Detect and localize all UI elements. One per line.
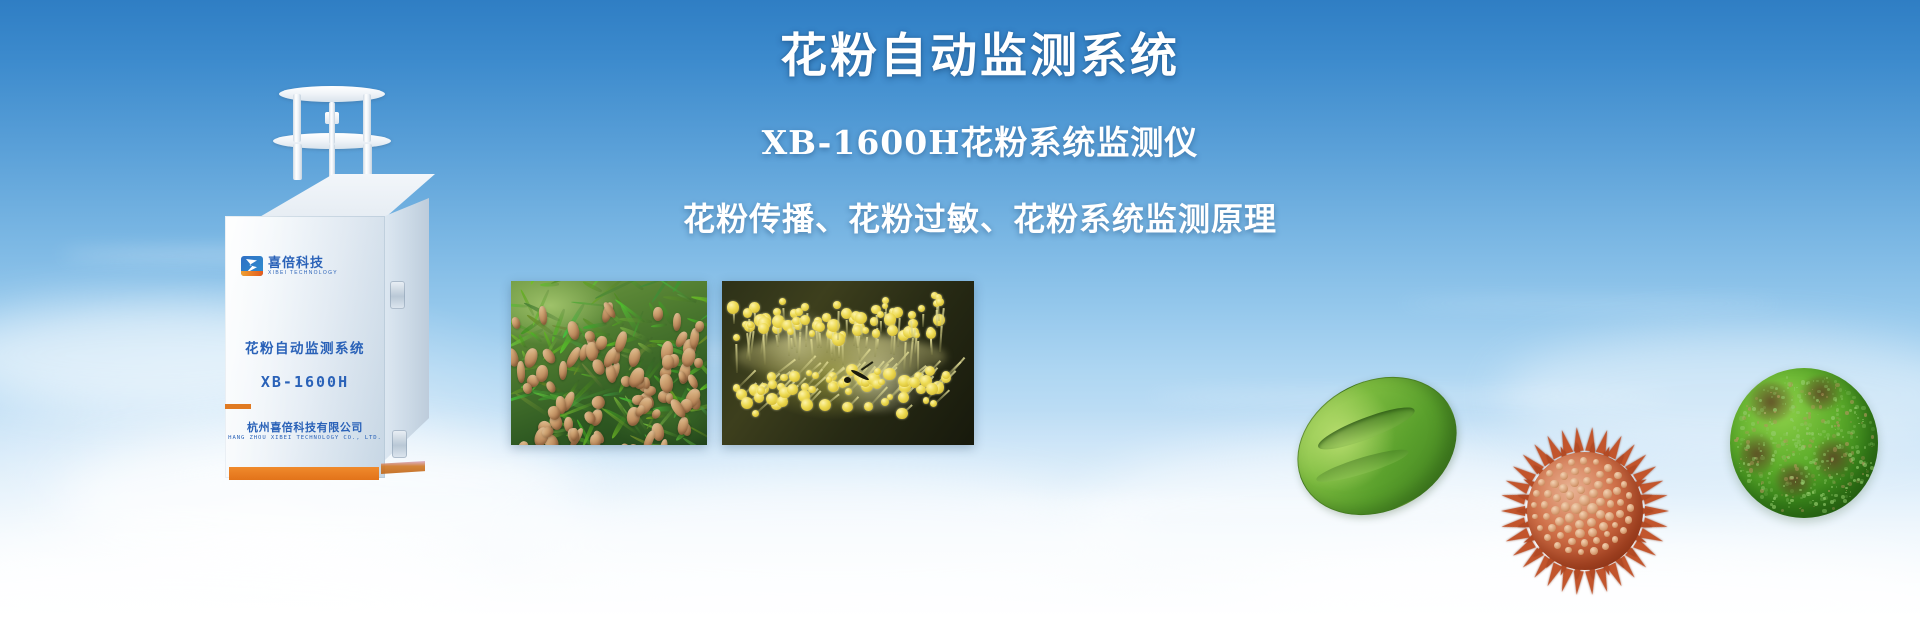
sampling-head-post: [293, 94, 301, 142]
sampling-head-post: [329, 102, 335, 144]
sampling-head-inlet-tube: [329, 144, 335, 178]
xibei-logo-icon: [241, 256, 263, 276]
cabinet-company-cn: 杭州喜倍科技有限公司: [225, 419, 385, 435]
cloud-streak: [1400, 300, 1780, 307]
sampling-head-post: [293, 144, 302, 180]
page-title: 花粉自动监测系统: [590, 30, 1370, 84]
cabinet-latch-upper: [390, 281, 405, 309]
brand-name-cn: 喜倍科技: [268, 256, 338, 270]
sampling-head-post: [363, 94, 371, 142]
green-sphere-pollen-grain: [1730, 368, 1878, 518]
cabinet-orange-tick: [225, 404, 251, 409]
catkin-pollen-release-photo: [722, 281, 974, 445]
brand-name-en: XIBEI TECHNOLOGY: [268, 270, 338, 276]
cabinet-orange-stripe-side: [381, 461, 425, 474]
cypress-pollen-cones-photo: [511, 281, 707, 445]
brand-logo-text: 喜倍科技 XIBEI TECHNOLOGY: [268, 256, 338, 276]
cabinet-orange-stripe: [229, 467, 379, 480]
pollen-body: [1274, 350, 1481, 541]
green-oval-pollen-grain: [1274, 350, 1481, 541]
banner-root: 花粉自动监测系统 XB-1600H花粉系统监测仪 花粉传播、花粉过敏、花粉系统监…: [0, 0, 1920, 619]
cabinet-model-label: XB-1600H: [225, 373, 385, 391]
brand-logo: 喜倍科技 XIBEI TECHNOLOGY: [241, 256, 338, 276]
product-model-title: XB-1600H花粉系统监测仪: [590, 116, 1370, 164]
headline-block: 花粉自动监测系统 XB-1600H花粉系统监测仪 花粉传播、花粉过敏、花粉系统监…: [590, 30, 1370, 240]
tagline: 花粉传播、花粉过敏、花粉系统监测原理: [590, 194, 1370, 240]
pollen-monitoring-cabinet: 喜倍科技 XIBEI TECHNOLOGY 花粉自动监测系统 XB-1600H …: [215, 78, 475, 438]
cabinet-latch-lower: [392, 430, 407, 458]
cabinet-side-face: [385, 198, 429, 460]
spiky-red-pollen-grain: [1505, 430, 1665, 592]
bottom-fade: [0, 603, 1920, 619]
cloud-streak: [980, 500, 1580, 512]
cabinet-company-en: HANG ZHOU XIBEI TECHNOLOGY CO., LTD.: [225, 435, 385, 441]
cabinet-panel-title: 花粉自动监测系统: [225, 337, 385, 357]
cloud-shape: [520, 470, 1140, 619]
